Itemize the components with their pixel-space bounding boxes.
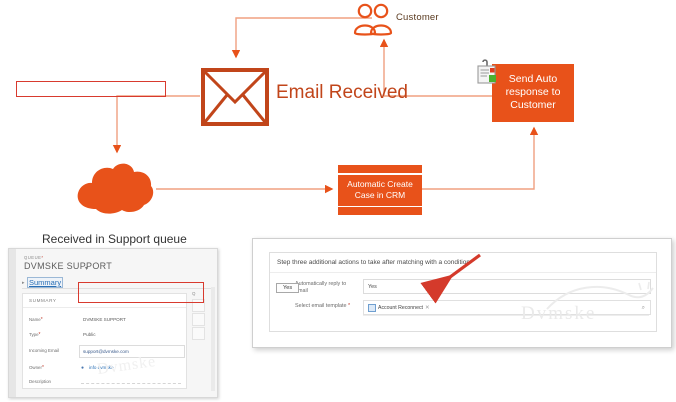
required-asterisk: * xyxy=(42,365,44,371)
card-header-divider xyxy=(23,307,186,308)
send-label-line3: Customer xyxy=(492,99,574,112)
required-asterisk: * xyxy=(39,332,41,338)
step-instruction: Step three additional actions to take af… xyxy=(277,259,470,266)
node-customer: Customer xyxy=(352,3,472,39)
rail-button-2[interactable] xyxy=(192,313,205,326)
required-asterisk: * xyxy=(41,317,43,323)
close-icon[interactable]: ✕ xyxy=(425,305,430,311)
email-template-token[interactable]: Account Reconnect ✕ xyxy=(368,304,430,312)
send-label-line2: response to xyxy=(492,86,574,99)
crm-label-line2: Case in CRM xyxy=(338,190,422,201)
template-icon xyxy=(368,304,376,312)
watermark: Dvmske xyxy=(521,303,596,325)
rail-button-3[interactable] xyxy=(192,327,205,340)
auto-response-settings-screenshot: Step three additional actions to take af… xyxy=(252,238,672,348)
node-send-auto-response: Send Auto response to Customer xyxy=(492,64,574,122)
right-rail: Q xyxy=(191,289,211,387)
email-received-label: Email Received xyxy=(276,82,408,104)
envelope-icon xyxy=(200,62,270,132)
tab-summary[interactable]: Summary xyxy=(27,277,63,288)
crm-label: Automatic Create Case in CRM xyxy=(338,179,422,201)
people-group-icon xyxy=(352,3,396,37)
auto-reply-label: Automatically reply to email xyxy=(295,281,355,295)
row-name-label: Name* xyxy=(29,317,43,323)
chevron-down-icon[interactable]: ▾ xyxy=(85,265,88,272)
summary-card-header: SUMMARY xyxy=(29,298,57,303)
row-type: Type* Public xyxy=(29,329,184,343)
queue-field-label: QUEUE* xyxy=(24,255,44,260)
node-email-received: Email Received xyxy=(200,62,450,132)
node-cloud xyxy=(72,157,156,219)
description-input[interactable] xyxy=(81,383,181,384)
queue-settings-screenshot: QUEUE* DVMSKE SUPPORT ▾ ▸ Summary SUMMAR… xyxy=(8,248,218,398)
panel-scrollbar[interactable] xyxy=(211,287,215,391)
email-template-label: Select email template * xyxy=(295,303,355,310)
left-panel-caption: Received in Support queue xyxy=(42,232,187,246)
crm-band-bottom xyxy=(338,206,422,208)
required-asterisk: * xyxy=(41,255,43,260)
incoming-email-value: support@dvmske.com xyxy=(83,349,129,354)
yes-tooltip: Yes xyxy=(276,283,299,293)
step-divider xyxy=(270,272,656,273)
highlight-incoming-email xyxy=(16,81,166,97)
customer-label: Customer xyxy=(396,12,439,23)
row-name-value: DVMSKE SUPPORT xyxy=(83,317,126,322)
cloud-icon xyxy=(72,157,156,219)
row-name: Name* DVMSKE SUPPORT xyxy=(29,314,184,328)
auto-reply-value: Yes xyxy=(368,284,377,290)
row-type-label: Type* xyxy=(29,332,40,338)
row-incoming-email: Incoming Email support@dvmske.com xyxy=(29,345,184,359)
tab-expand-icon[interactable]: ▸ xyxy=(22,280,25,286)
email-template-token-label: Account Reconnect xyxy=(378,305,423,311)
node-automatic-create-case: Automatic Create Case in CRM xyxy=(338,165,422,215)
crm-label-line1: Automatic Create xyxy=(338,179,422,190)
send-label-line1: Send Auto xyxy=(492,73,574,86)
crm-band-top xyxy=(338,173,422,175)
queue-title: DVMSKE SUPPORT xyxy=(24,261,112,271)
queue-label-text: QUEUE xyxy=(24,255,41,260)
highlight-email-template xyxy=(78,282,204,303)
required-asterisk: * xyxy=(348,303,350,309)
person-icon: ● xyxy=(81,365,84,371)
process-flow-diagram: Customer Email Received Automatic Create… xyxy=(0,0,676,235)
send-auto-label: Send Auto response to Customer xyxy=(492,73,574,112)
row-description-label: Description xyxy=(29,379,51,384)
left-nav-rail xyxy=(9,249,16,397)
row-type-value: Public xyxy=(83,332,96,337)
row-owner-label: Owner* xyxy=(29,365,44,371)
row-description: Description xyxy=(29,376,184,390)
row-incoming-email-label: Incoming Email xyxy=(29,348,59,353)
